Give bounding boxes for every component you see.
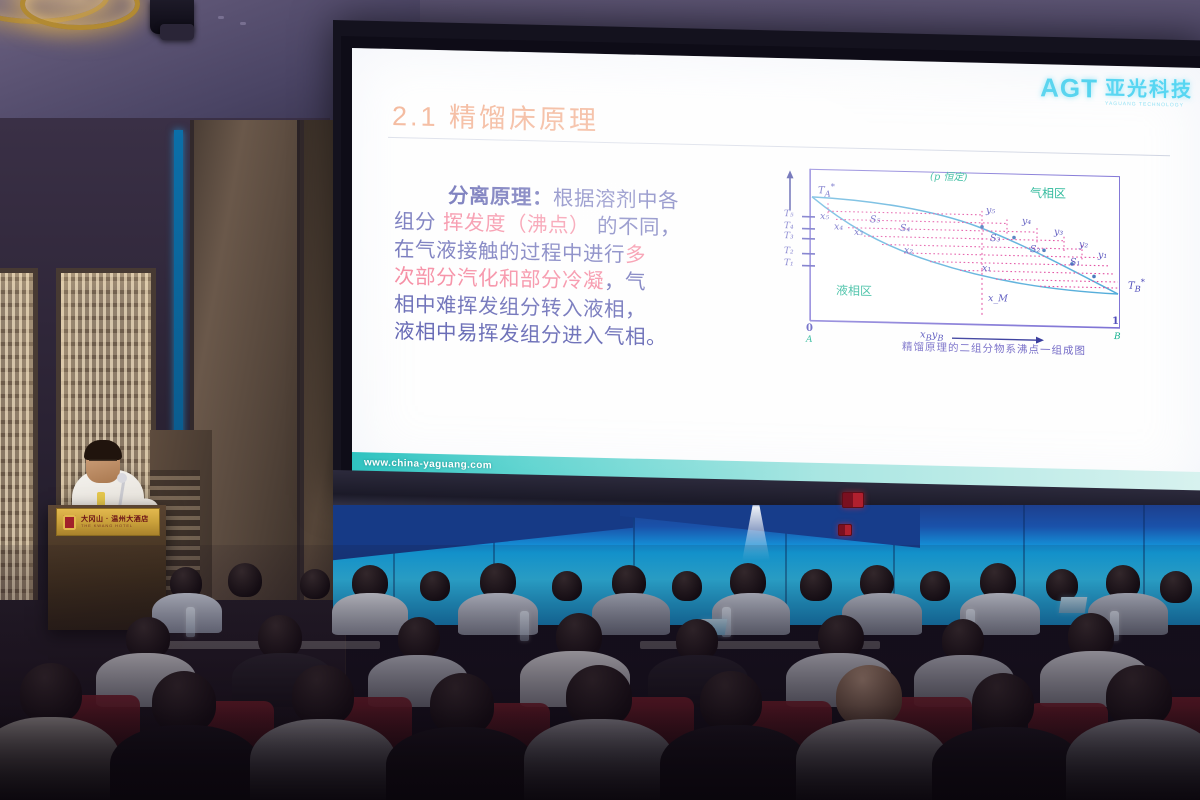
title-divider bbox=[388, 137, 1170, 156]
chart-point-x1: x₁ bbox=[982, 263, 991, 274]
exit-sign-icon-lower bbox=[838, 524, 852, 536]
chart-point-x2: x₂ bbox=[904, 245, 913, 256]
logo-company-name-cn: 亚光科技 bbox=[1105, 72, 1193, 103]
chart-ytick-5: T₅ bbox=[784, 209, 794, 219]
chart-xtick-1: 1 bbox=[1112, 316, 1119, 327]
chart-region-gas-label: 气相区 bbox=[1030, 184, 1066, 202]
chart-point-x5: x₅ bbox=[820, 211, 829, 222]
chart-ta-label: TA* bbox=[818, 181, 835, 199]
chart-stage-s4: S₄ bbox=[900, 223, 910, 234]
chart-stage-s3: S₃ bbox=[990, 233, 1000, 244]
speaker-hair bbox=[84, 440, 122, 460]
body-line1: 根据溶剂中各 bbox=[553, 186, 679, 213]
chart-tb-label: TB* bbox=[1128, 276, 1145, 294]
chart-point-y1: y₁ bbox=[1098, 250, 1107, 261]
chart-ytick-3: T₃ bbox=[784, 231, 794, 241]
chart-stage-s2: S₂ bbox=[1030, 244, 1040, 255]
audience bbox=[0, 545, 1200, 800]
glasses-icon bbox=[89, 459, 117, 465]
body-line4-b: ，气 bbox=[604, 269, 646, 294]
chart-axis-end-b: B bbox=[1114, 332, 1121, 342]
microphone-icon bbox=[117, 473, 127, 483]
body-line3-a: 在气液接触的过程中进行 bbox=[394, 237, 625, 266]
body-line5: 相中难挥发组分转入液相， bbox=[394, 292, 646, 322]
presentation-photo-scene: AGT 亚光科技 YAGUANG TECHNOLOGY 2.1 精馏床原理 分离… bbox=[0, 0, 1200, 800]
body-line2-highlight: 挥发度（沸点） bbox=[443, 211, 590, 238]
chart-stage-s1: S₁ bbox=[1070, 257, 1080, 268]
chart-point-x4: x₄ bbox=[834, 221, 843, 232]
slide-body-text: 分离原理：根据溶剂中各 组分 挥发度（沸点） 的不同， 在气液接触的过程中进行多… bbox=[394, 181, 754, 354]
venue-name-en: THE KWANG HOTEL bbox=[81, 524, 149, 528]
venue-name-cn: 大冈山 · 温州大酒店 bbox=[81, 516, 149, 523]
chart-point-y4: y₄ bbox=[1022, 216, 1031, 227]
ceiling-fixture-dot bbox=[240, 22, 246, 25]
chart-point-y2: y₂ bbox=[1079, 239, 1088, 250]
chart-ytick-1: T₁ bbox=[784, 258, 794, 268]
venue-plaque: 大冈山 · 温州大酒店 THE KWANG HOTEL bbox=[56, 508, 160, 536]
body-line3-highlight: 多 bbox=[625, 242, 646, 266]
ceiling-speaker-base-icon bbox=[160, 24, 194, 40]
chart-point-xm: x_M bbox=[988, 293, 1008, 304]
logo-company-name-sub: YAGUANG TECHNOLOGY bbox=[1105, 101, 1193, 109]
chart-stage-s5: S₅ bbox=[870, 214, 880, 225]
body-line4-highlight: 次部分汽化和部分冷凝 bbox=[394, 264, 604, 293]
company-logo: AGT 亚光科技 YAGUANG TECHNOLOGY bbox=[1040, 70, 1193, 109]
presentation-slide: AGT 亚光科技 YAGUANG TECHNOLOGY 2.1 精馏床原理 分离… bbox=[352, 48, 1200, 496]
slide-footer-url: www.china-yaguang.com bbox=[364, 457, 492, 471]
chart-region-liquid-label: 液相区 bbox=[836, 281, 872, 299]
chart-ytick-4: T₄ bbox=[784, 221, 794, 231]
chart-axis-end-a: A bbox=[806, 335, 813, 345]
body-lead: 分离原理： bbox=[448, 183, 553, 209]
phase-diagram-chart: (p 恒定) 气相区 液相区 TA* TB* T₅ T₄ T₃ T₂ T₁ x₅… bbox=[782, 158, 1177, 367]
chart-ytick-2: T₂ bbox=[784, 246, 794, 256]
body-line6: 液相中易挥发组分进入气相。 bbox=[394, 319, 667, 349]
chart-xtick-0: 0 bbox=[806, 323, 813, 334]
chart-point-x3: x₃ bbox=[854, 227, 863, 238]
logo-agt-mark: AGT bbox=[1040, 72, 1098, 104]
exit-sign-icon bbox=[842, 492, 864, 508]
logo-company-block: 亚光科技 YAGUANG TECHNOLOGY bbox=[1105, 72, 1193, 109]
body-line2-a: 组分 bbox=[394, 209, 443, 234]
chart-point-y5: y₅ bbox=[986, 205, 995, 216]
chart-condition-label: (p 恒定) bbox=[930, 168, 967, 184]
body-line2-b: 的不同， bbox=[590, 214, 681, 240]
venue-plaque-text: 大冈山 · 温州大酒店 THE KWANG HOTEL bbox=[81, 516, 149, 529]
chart-point-y3: y₃ bbox=[1054, 227, 1063, 238]
slide-title: 2.1 精馏床原理 bbox=[392, 94, 599, 138]
foreground-vignette bbox=[0, 705, 1200, 800]
text-indent bbox=[394, 201, 448, 202]
hotel-logo-icon bbox=[63, 515, 76, 530]
ceiling-fixture-dot bbox=[218, 16, 224, 19]
